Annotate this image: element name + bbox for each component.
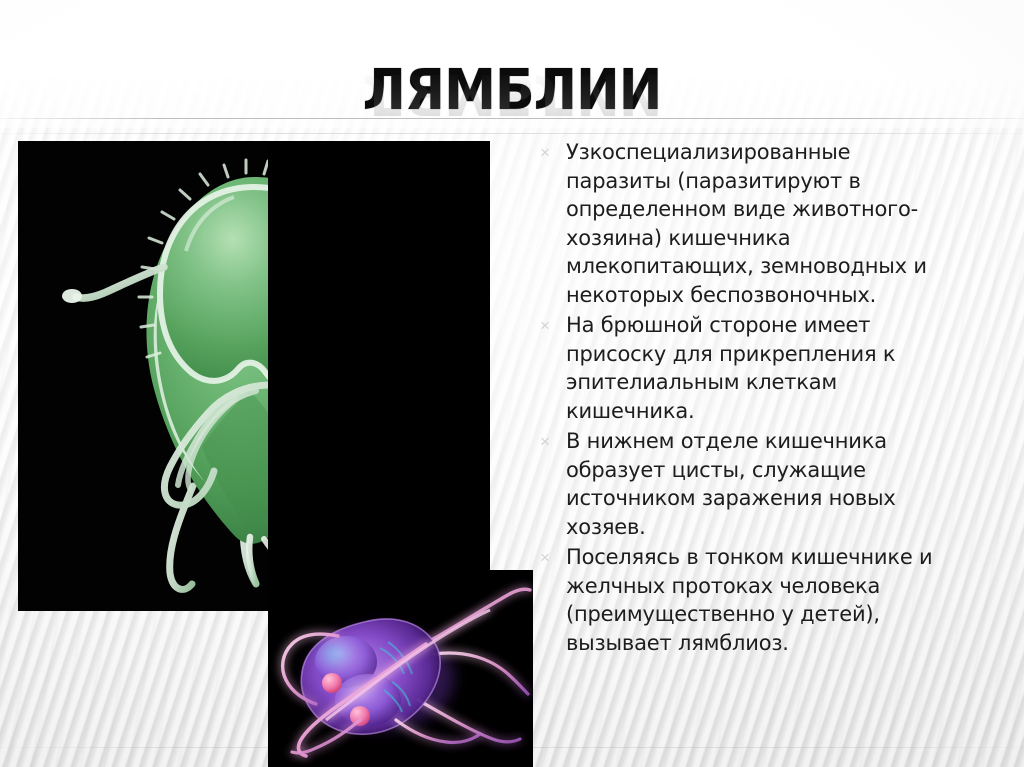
bullet-list: × Узкоспециализированные паразиты (параз… — [524, 138, 1024, 659]
bullet-cross-icon: × — [524, 311, 566, 341]
giardia-nucleolus-left — [322, 673, 342, 693]
list-item: × Узкоспециализированные паразиты (параз… — [524, 138, 1024, 309]
bullet-text: Поселяясь в тонком кишечнике и желчных п… — [566, 543, 1024, 657]
list-item: × Поселяясь в тонком кишечнике и желчных… — [524, 543, 1024, 657]
slide: ЛЯМБЛИИ ЛЯМБЛИИ — [0, 0, 1024, 767]
bullet-text: На брюшной стороне имеет присоску для пр… — [566, 311, 1024, 425]
figure-giardia-sem — [18, 141, 268, 611]
background-top-wash — [0, 0, 1024, 128]
bullet-cross-icon: × — [524, 138, 566, 168]
header-divider-line-secondary — [0, 133, 1024, 134]
bullet-text: Узкоспециализированные паразиты (паразит… — [566, 138, 1024, 309]
list-item: × В нижнем отделе кишечника образует цис… — [524, 427, 1024, 541]
giardia-sem-illustration — [18, 141, 268, 611]
bullet-cross-icon: × — [524, 543, 566, 573]
figure-giardia-illustration — [268, 570, 533, 767]
bullet-cross-icon: × — [524, 427, 566, 457]
header-divider-line — [0, 118, 1024, 119]
list-item: × На брюшной стороне имеет присоску для … — [524, 311, 1024, 425]
bullet-text: В нижнем отделе кишечника образует цисты… — [566, 427, 1024, 541]
giardia-illustration-graphic — [268, 570, 533, 767]
giardia-nucleolus-right — [350, 706, 370, 726]
